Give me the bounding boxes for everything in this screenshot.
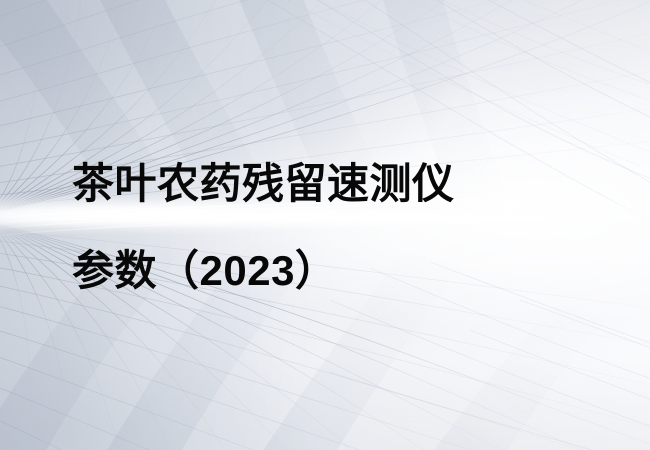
title-line-2: 参数（2023）: [72, 227, 542, 314]
title-banner: 茶叶农药残留速测仪 参数（2023）: [0, 0, 650, 450]
page-title: 茶叶农药残留速测仪 参数（2023）: [72, 140, 542, 314]
title-line-1: 茶叶农药残留速测仪: [72, 140, 542, 227]
